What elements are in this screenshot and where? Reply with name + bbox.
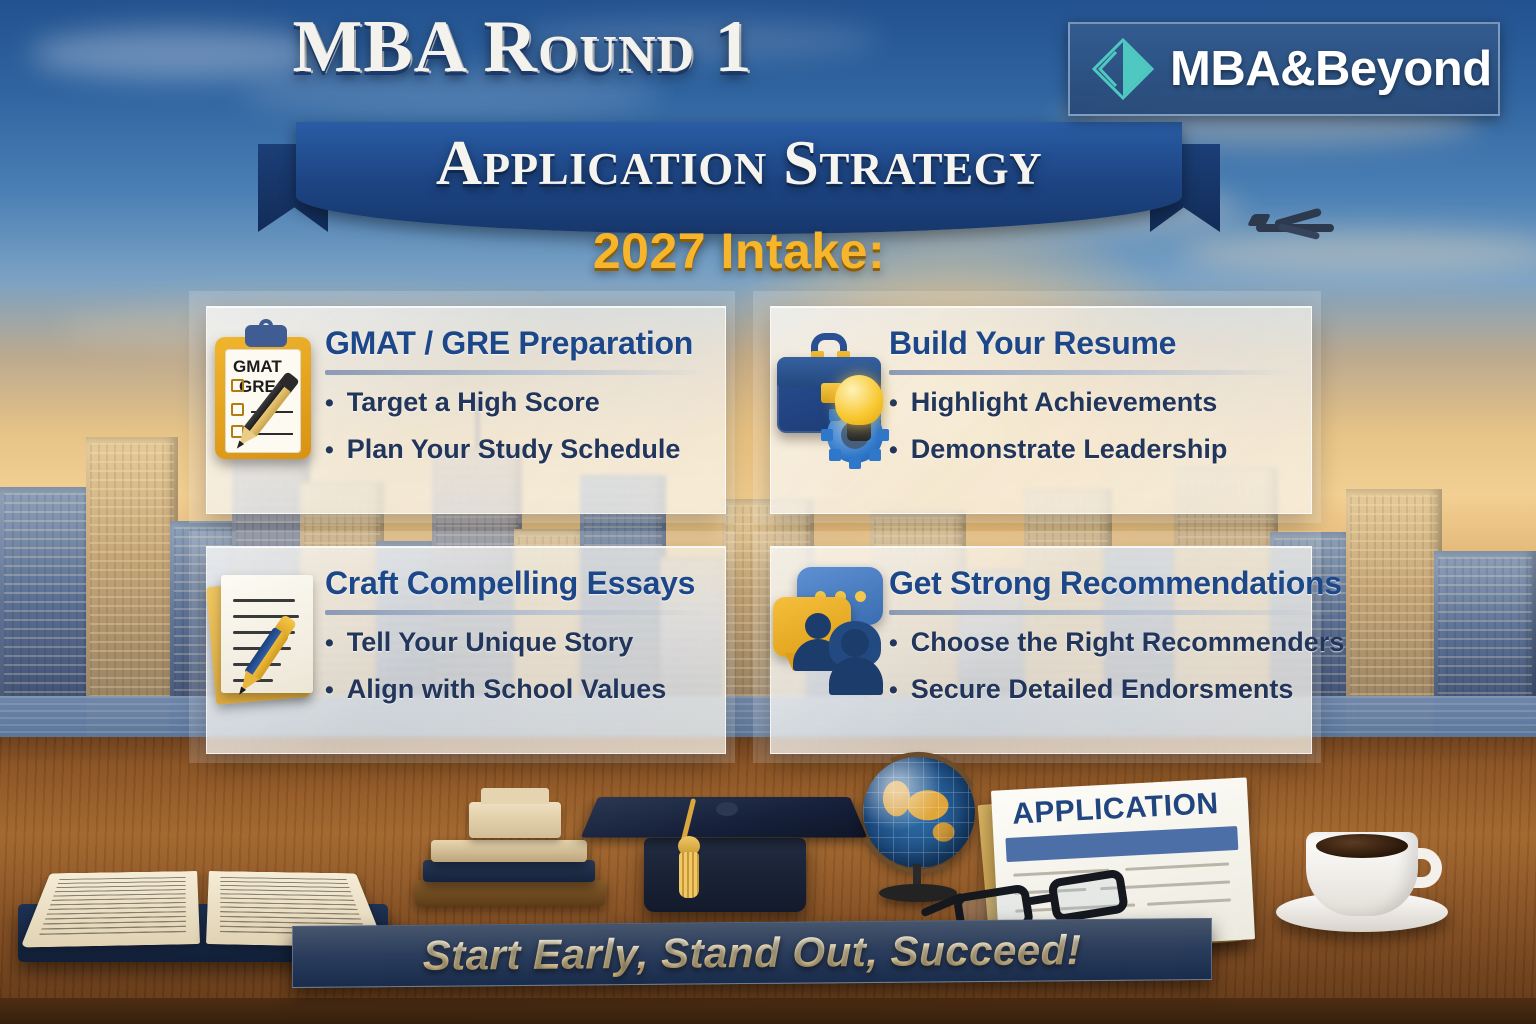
bullet-text: Plan Your Study Schedule [347, 434, 681, 465]
page-title-line1: MBA Round 1 [0, 12, 1045, 82]
briefcase-lightbulb-gear-icon [771, 321, 889, 501]
clipboard-label-gmat: GMAT [233, 357, 282, 377]
list-item: •Demonstrate Leadership [889, 434, 1293, 465]
list-item: •Target a High Score [325, 387, 707, 418]
clipboard-pencil-icon: GMAT GRE [207, 321, 325, 501]
card-title: Build Your Resume [889, 325, 1293, 362]
desk-globe [855, 756, 983, 906]
bullet-text: Target a High Score [347, 387, 600, 418]
title-divider [889, 610, 1344, 615]
page-title-line2: Application Strategy [258, 126, 1220, 200]
lightbulb-icon [835, 375, 883, 425]
card-build-your-resume[interactable]: Build Your Resume •Highlight Achievement… [770, 306, 1312, 514]
infographic-poster: MBA Round 1 Application Strategy 2027 In… [0, 0, 1536, 1024]
list-item: •Tell Your Unique Story [325, 627, 707, 658]
brand-name: MBA&Beyond [1170, 41, 1492, 97]
bullet-text: Tell Your Unique Story [347, 627, 634, 658]
bullet-text: Secure Detailed Endorsments [911, 674, 1294, 705]
tassel [676, 798, 702, 894]
bullet-text: Demonstrate Leadership [911, 434, 1228, 465]
desk-edge [0, 998, 1536, 1024]
card-bullet-list: •Target a High Score •Plan Your Study Sc… [325, 387, 707, 465]
card-bullet-list: •Tell Your Unique Story •Align with Scho… [325, 627, 707, 705]
architecture-model [469, 802, 561, 838]
list-item: •Secure Detailed Endorsments [889, 674, 1344, 705]
bullet-marker: • [889, 678, 898, 703]
card-gmat-gre-preparation[interactable]: GMAT GRE GMAT / GRE Preparation •Target … [206, 306, 726, 514]
list-item: •Choose the Right Recommenders [889, 627, 1344, 658]
list-item: •Plan Your Study Schedule [325, 434, 707, 465]
bullet-marker: • [325, 678, 334, 703]
book-stack [415, 810, 605, 906]
brand-logo[interactable]: MBA&Beyond [1068, 22, 1500, 116]
list-item: •Align with School Values [325, 674, 707, 705]
bullet-marker: • [325, 438, 334, 463]
title-divider [889, 370, 1293, 375]
bullet-marker: • [889, 631, 898, 656]
card-craft-compelling-essays[interactable]: Craft Compelling Essays •Tell Your Uniqu… [206, 546, 726, 754]
people-speech-bubbles-icon [771, 561, 889, 741]
title-divider [325, 610, 707, 615]
bullet-text: Highlight Achievements [911, 387, 1218, 418]
person-icon [825, 621, 885, 693]
list-item: •Highlight Achievements [889, 387, 1293, 418]
card-title: GMAT / GRE Preparation [325, 325, 707, 362]
card-bullet-list: •Highlight Achievements •Demonstrate Lea… [889, 387, 1293, 465]
card-get-strong-recommendations[interactable]: Get Strong Recommendations •Choose the R… [770, 546, 1312, 754]
bullet-text: Align with School Values [347, 674, 667, 705]
bullet-marker: • [889, 391, 898, 416]
notepad-pen-icon [207, 561, 325, 741]
card-title: Craft Compelling Essays [325, 565, 707, 602]
graduation-cap [590, 760, 858, 912]
airplane-icon [1248, 212, 1340, 242]
bullet-marker: • [325, 631, 334, 656]
footer-tagline-banner: Start Early, Stand Out, Succeed! [292, 918, 1212, 988]
bullet-marker: • [889, 438, 898, 463]
footer-tagline: Start Early, Stand Out, Succeed! [423, 926, 1082, 980]
coffee-cup [1276, 806, 1448, 932]
title-divider [325, 370, 707, 375]
card-title: Get Strong Recommendations [889, 565, 1344, 602]
bullet-marker: • [325, 391, 334, 416]
bullet-text: Choose the Right Recommenders [911, 627, 1345, 658]
card-bullet-list: •Choose the Right Recommenders •Secure D… [889, 627, 1344, 705]
diamond-chevron-icon [1090, 36, 1156, 102]
page-subtitle-intake: 2027 Intake: [258, 222, 1220, 280]
